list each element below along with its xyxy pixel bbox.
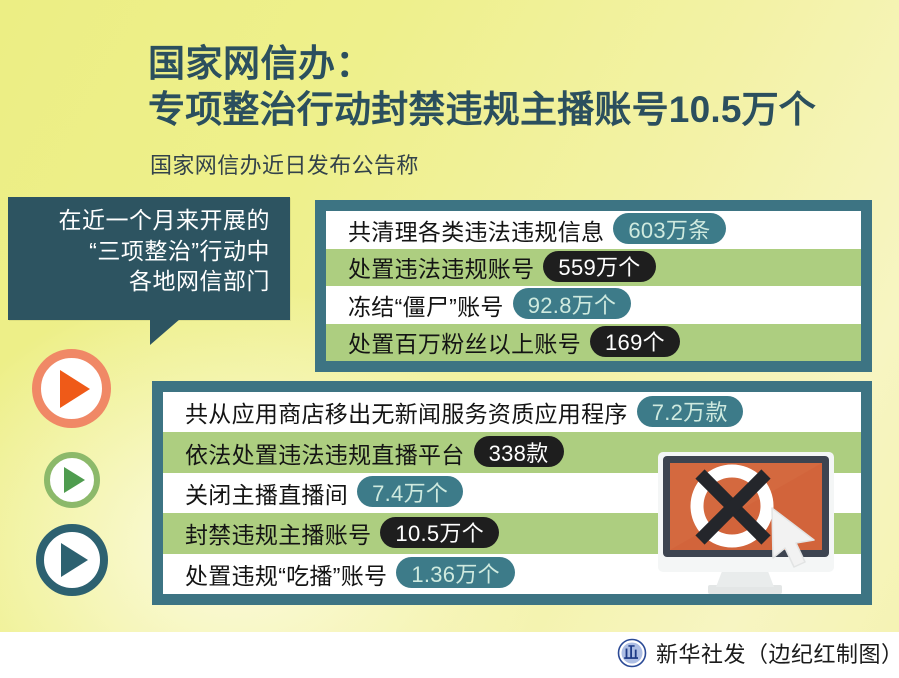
row-value-pill: 338款 — [474, 436, 564, 467]
row-value-pill: 7.2万款 — [637, 396, 743, 427]
row-label: 封禁违规主播账号 — [185, 516, 371, 550]
row-value-pill: 559万个 — [543, 251, 655, 282]
table-row: 共清理各类违法违规信息 603万条 — [326, 211, 861, 249]
play-button-teal[interactable] — [36, 524, 108, 596]
row-value-pill: 1.36万个 — [396, 557, 515, 588]
row-label: 关闭主播直播间 — [185, 476, 348, 510]
row-value-pill: 10.5万个 — [380, 517, 499, 548]
stats-panel-one: 共清理各类违法违规信息 603万条 处置违法违规账号 559万个 冻结“僵尸”账… — [315, 200, 872, 372]
page-title: 国家网信办： 专项整治行动封禁违规主播账号10.5万个 — [148, 42, 888, 132]
table-row: 共从应用商店移出无新闻服务资质应用程序 7.2万款 — [163, 392, 861, 432]
table-row: 处置违法违规账号 559万个 — [326, 249, 861, 287]
callout-tail — [150, 319, 180, 345]
xinhua-logo — [617, 638, 647, 668]
title-line-2: 专项整治行动封禁违规主播账号10.5万个 — [148, 88, 888, 132]
row-label: 处置违规“吃播”账号 — [185, 557, 387, 591]
play-button-green[interactable] — [44, 452, 100, 508]
row-label: 依法处置违法违规直播平台 — [185, 436, 465, 470]
footer-credit-text: 新华社发（边纪红制图） — [656, 637, 899, 669]
row-label: 处置百万粉丝以上账号 — [348, 325, 581, 359]
callout-text: 在近一个月来开展的 “三项整治”行动中 各地网信部门 — [8, 205, 270, 297]
play-triangle-icon — [61, 543, 88, 577]
infographic-poster: 国家网信办： 专项整治行动封禁违规主播账号10.5万个 国家网信办近日发布公告称… — [0, 0, 899, 678]
row-value-pill: 7.4万个 — [357, 476, 463, 507]
callout-box: 在近一个月来开展的 “三项整治”行动中 各地网信部门 — [8, 197, 290, 320]
row-value-pill: 603万条 — [613, 213, 725, 244]
footer-credit: 新华社发（边纪红制图） — [617, 637, 899, 669]
row-label: 共清理各类违法违规信息 — [348, 213, 604, 247]
blocked-monitor-icon — [654, 448, 844, 600]
row-label: 冻结“僵尸”账号 — [348, 288, 504, 322]
table-row: 处置百万粉丝以上账号 169个 — [326, 324, 861, 362]
play-button-orange[interactable] — [32, 349, 111, 428]
row-label: 处置违法违规账号 — [348, 250, 534, 284]
page-subtitle: 国家网信办近日发布公告称 — [150, 148, 419, 180]
title-line-1: 国家网信办： — [148, 42, 888, 86]
table-row: 冻结“僵尸”账号 92.8万个 — [326, 286, 861, 324]
row-value-pill: 169个 — [590, 326, 680, 357]
play-triangle-icon — [60, 370, 90, 408]
row-label: 共从应用商店移出无新闻服务资质应用程序 — [185, 395, 628, 429]
row-value-pill: 92.8万个 — [513, 288, 632, 319]
stats-panel-one-body: 共清理各类违法违规信息 603万条 处置违法违规账号 559万个 冻结“僵尸”账… — [326, 211, 861, 361]
play-triangle-icon — [64, 467, 85, 493]
